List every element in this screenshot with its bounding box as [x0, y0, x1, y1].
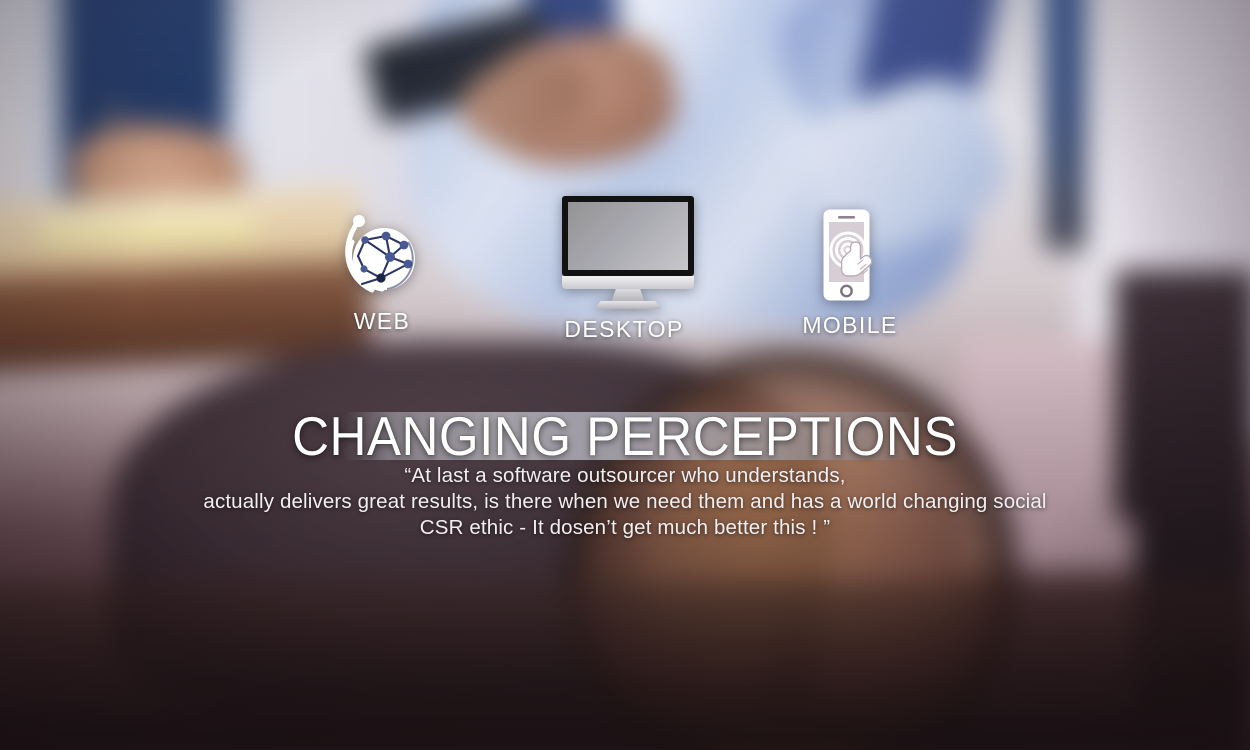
platform-item-mobile[interactable]: MOBILE	[800, 208, 900, 339]
monitor-stand-neck	[611, 289, 645, 303]
desktop-monitor-icon	[554, 196, 694, 308]
quote-line-3: CSR ethic - It dosen’t get much better t…	[0, 515, 1250, 541]
mobile-touch-icon	[810, 208, 890, 304]
globe-network-icon	[338, 212, 426, 300]
platform-item-web[interactable]: WEB	[330, 212, 434, 335]
monitor-stand-base	[594, 301, 662, 309]
monitor-bezel	[562, 196, 694, 276]
platform-item-desktop[interactable]: DESKTOP	[544, 196, 704, 343]
testimonial-quote: “At last a software outsourcer who under…	[0, 463, 1250, 541]
monitor-screen	[568, 202, 688, 270]
quote-line-2: actually delivers great results, is ther…	[0, 489, 1250, 515]
quote-line-1: “At last a software outsourcer who under…	[0, 463, 1250, 489]
platform-label-desktop: DESKTOP	[544, 316, 704, 343]
platform-label-web: WEB	[330, 308, 434, 335]
hero-banner: WEB DESKTOP	[0, 0, 1250, 750]
monitor-chin	[562, 276, 694, 289]
platform-label-mobile: MOBILE	[800, 312, 900, 339]
page-title: CHANGING PERCEPTIONS	[44, 408, 1207, 464]
content-overlay: WEB DESKTOP	[0, 0, 1250, 750]
